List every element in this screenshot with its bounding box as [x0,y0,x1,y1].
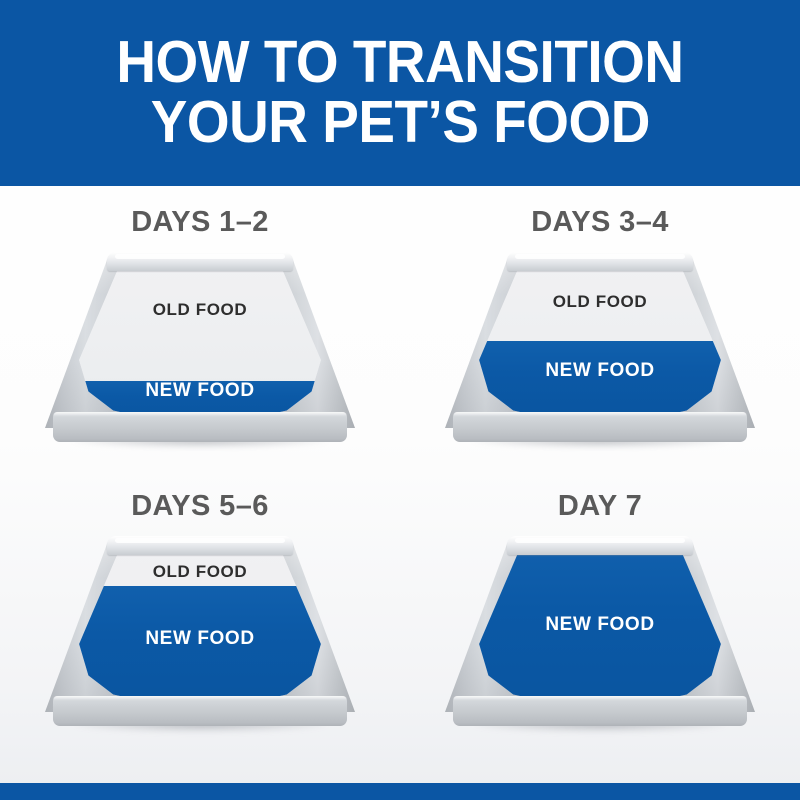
bowl-rim [107,536,293,555]
new-food-label: NEW FOOD [445,614,755,636]
bowl-base [453,412,747,442]
new-food-label: NEW FOOD [45,380,355,402]
food-bowl: OLD FOOD NEW FOOD [445,252,755,452]
footer-bar [0,783,800,800]
step-panel-days-5-6: DAYS 5–6 OLD FOOD NEW FOOD [0,470,400,768]
step-title: DAYS 5–6 [0,490,400,523]
bowl-base [53,696,347,726]
page-title-line-1: HOW TO TRANSITION [116,34,683,92]
step-title: DAYS 3–4 [400,206,800,239]
header-banner: HOW TO TRANSITION YOUR PET’S FOOD [0,0,800,186]
bowl-base [453,696,747,726]
food-bowl: OLD FOOD NEW FOOD [45,252,355,452]
new-food-label: NEW FOOD [445,360,755,382]
step-title: DAY 7 [400,490,800,523]
food-bowl: NEW FOOD [445,536,755,736]
old-food-label: OLD FOOD [445,292,755,312]
step-panel-days-1-2: DAYS 1–2 OLD FOOD NEW FOOD [0,186,400,484]
old-food-label: OLD FOOD [45,562,355,582]
bowl-rim [507,536,693,555]
infographic-page: HOW TO TRANSITION YOUR PET’S FOOD DAYS 1… [0,0,800,800]
bowl-rim [507,252,693,271]
food-bowl: OLD FOOD NEW FOOD [45,536,355,736]
old-food-label: OLD FOOD [45,300,355,320]
page-title-line-2: YOUR PET’S FOOD [150,94,649,152]
step-title: DAYS 1–2 [0,206,400,239]
new-food-label: NEW FOOD [45,628,355,650]
bowl-base [53,412,347,442]
bowl-rim [107,252,293,271]
step-panel-day-7: DAY 7 NEW FOOD [400,470,800,768]
step-panel-days-3-4: DAYS 3–4 OLD FOOD NEW FOOD [400,186,800,484]
steps-grid: DAYS 1–2 OLD FOOD NEW FOOD DAYS 3–4 [0,186,800,783]
